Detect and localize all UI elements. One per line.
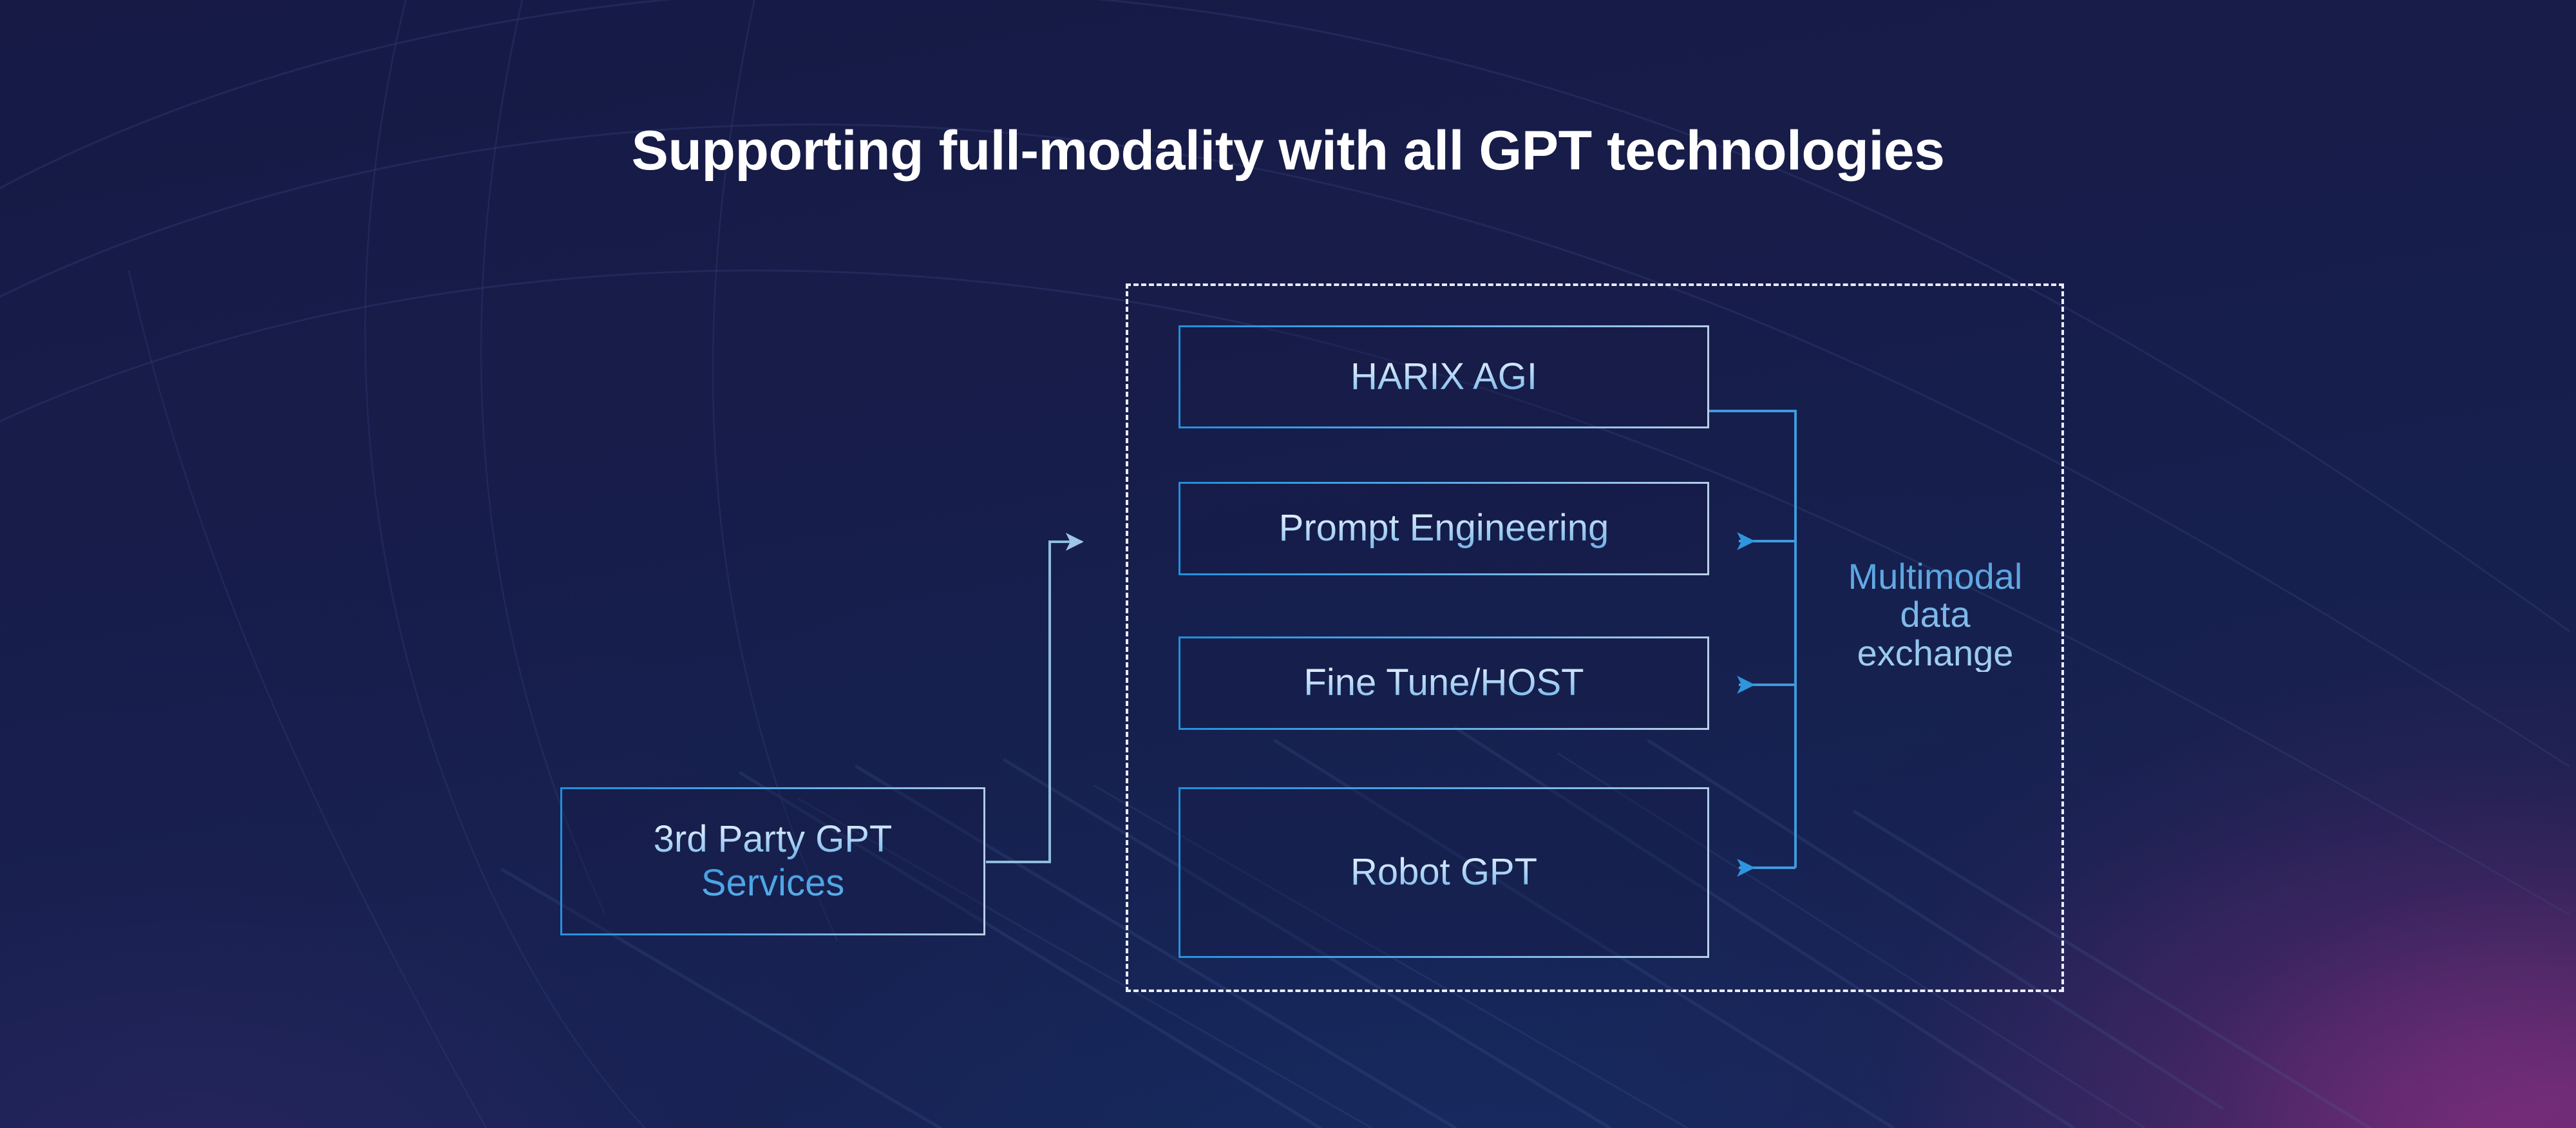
page-title: Supporting full-modality with all GPT te… (0, 119, 2576, 183)
multimodal-line3: exchange (1810, 634, 2061, 672)
node-prompt-engineering-label: Prompt Engineering (1279, 506, 1609, 550)
slide-canvas: Supporting full-modality with all GPT te… (0, 0, 2576, 1128)
node-third-party-line1: 3rd Party GPT (654, 817, 893, 861)
node-harix-agi[interactable]: HARIX AGI (1179, 325, 1709, 428)
multimodal-line1: Multimodal (1810, 557, 2061, 595)
node-prompt-engineering[interactable]: Prompt Engineering (1179, 482, 1709, 575)
node-robot-gpt-label: Robot GPT (1350, 850, 1537, 894)
node-fine-tune-host[interactable]: Fine Tune/HOST (1179, 636, 1709, 730)
node-fine-tune-host-label: Fine Tune/HOST (1303, 661, 1584, 705)
multimodal-line2: data (1810, 595, 2061, 633)
node-third-party-line2: Services (654, 861, 893, 905)
node-third-party-gpt-services[interactable]: 3rd Party GPT Services (560, 787, 985, 935)
multimodal-data-exchange-label: Multimodal data exchange (1810, 557, 2061, 672)
node-harix-agi-label: HARIX AGI (1350, 355, 1537, 399)
node-robot-gpt[interactable]: Robot GPT (1179, 787, 1709, 958)
